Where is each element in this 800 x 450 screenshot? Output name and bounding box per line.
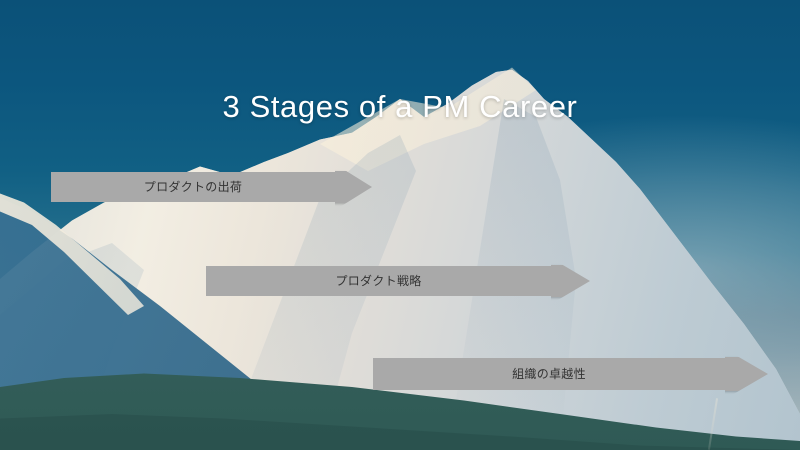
stage-arrow-3-label: 組織の卓越性 xyxy=(512,368,586,380)
slide-title: 3 Stages of a PM Career xyxy=(0,88,800,125)
stage-arrow-2-label: プロダクト戦略 xyxy=(335,275,421,287)
stage-arrow-2[interactable]: プロダクト戦略 xyxy=(206,266,590,296)
stage-arrow-3[interactable]: 組織の卓越性 xyxy=(373,358,768,390)
stage-arrow-1-label: プロダクトの出荷 xyxy=(144,181,242,193)
stage-arrow-1[interactable]: プロダクトの出荷 xyxy=(51,172,372,202)
presentation-slide: 3 Stages of a PM Career プロダクトの出荷 プロダクト戦略… xyxy=(0,0,800,450)
